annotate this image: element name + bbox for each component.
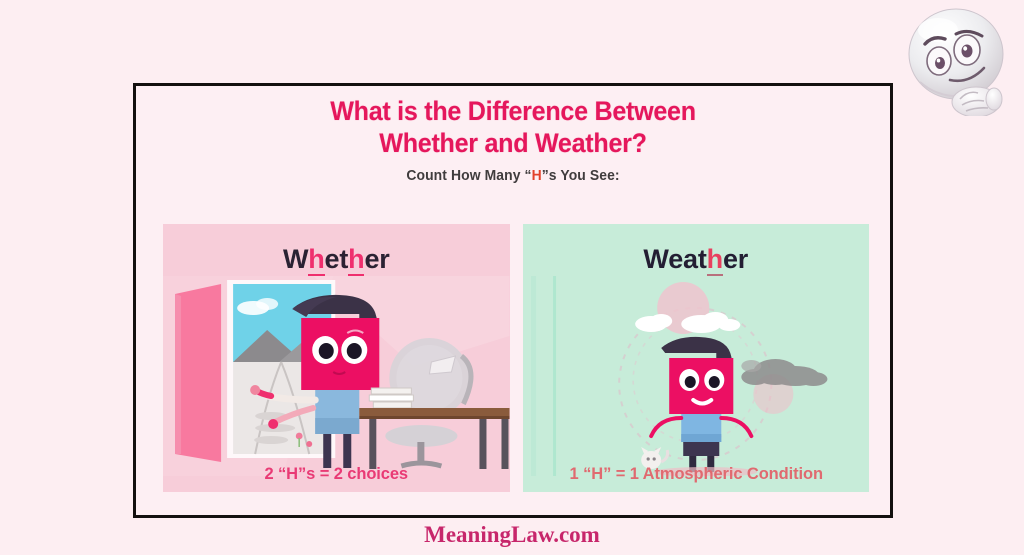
heading-part-er2: er [723, 244, 748, 274]
subtitle: Count How Many “H”s You See: [151, 168, 875, 184]
page-title-line-2: Whether and Weather? [162, 127, 863, 159]
indoor-study-scene [163, 276, 510, 476]
subtitle-highlight-h: H [532, 168, 542, 184]
subtitle-prefix: Count How Many “ [406, 168, 531, 184]
thinking-face-icon [898, 4, 1016, 116]
heading-part-et: et [325, 244, 349, 274]
heading-highlight-h2: h [348, 244, 364, 276]
panel-whether-caption: 2 “H”s = 2 choices [168, 464, 504, 484]
panel-whether-heading: Whether [163, 244, 510, 275]
panel-weather-heading: Weather [523, 244, 870, 275]
panel-whether: Whether [163, 224, 510, 492]
infographic-card: What is the Difference Between Whether a… [133, 83, 893, 518]
heading-part-er: er [364, 244, 389, 274]
heading-block: What is the Difference Between Whether a… [136, 86, 890, 184]
heading-part-W: W [283, 244, 308, 274]
page-title-line-1: What is the Difference Between [162, 95, 863, 127]
panel-weather: Weather [523, 224, 870, 492]
site-footer-link[interactable]: MeaningLaw.com [0, 522, 1024, 548]
heading-highlight-h1: h [308, 244, 324, 276]
comparison-panels: Whether [163, 224, 869, 492]
heading-part-Weat: Weat [643, 244, 706, 274]
subtitle-suffix: ”s You See: [542, 168, 620, 184]
outdoor-weather-scene [523, 276, 870, 476]
heading-highlight-h: h [707, 244, 723, 276]
panel-weather-caption: 1 “H” = 1 Atmospheric Condition [528, 464, 864, 484]
